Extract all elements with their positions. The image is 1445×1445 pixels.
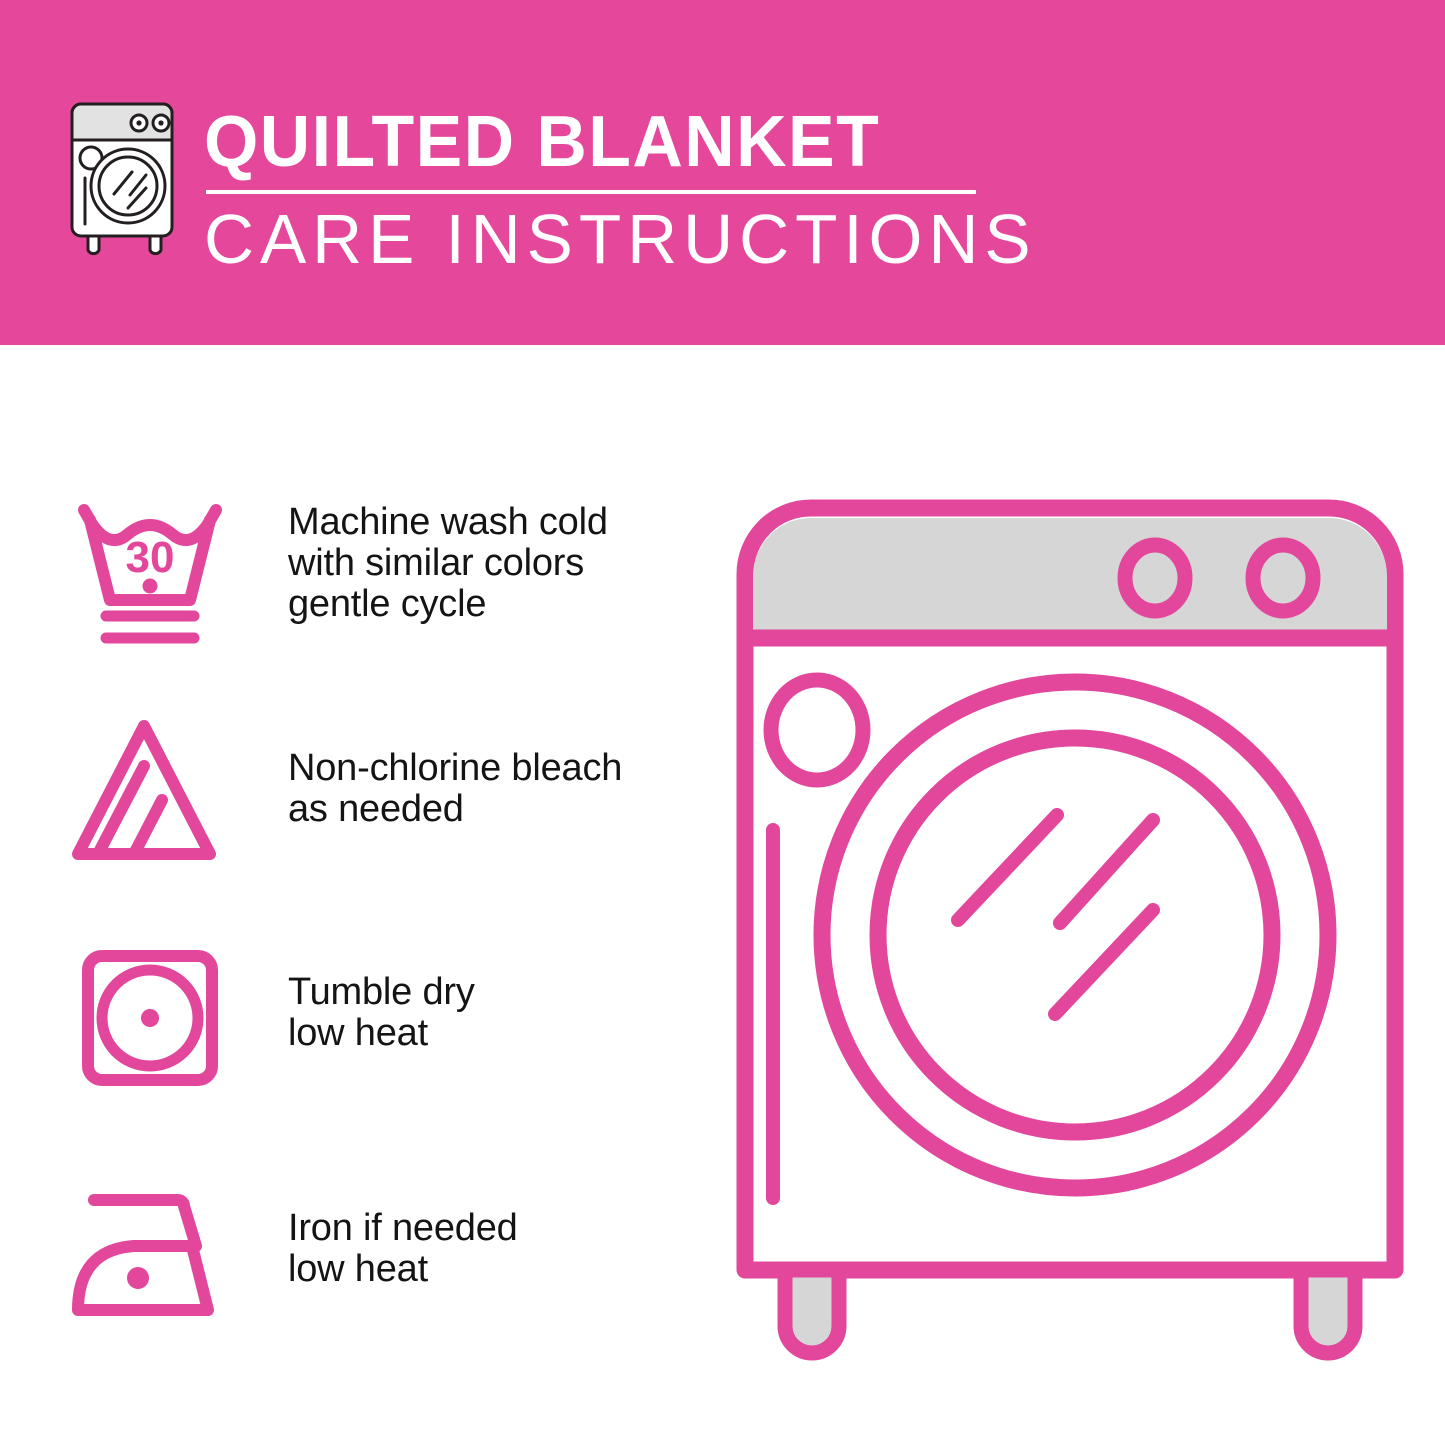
non-chlorine-bleach-triangle-icon xyxy=(62,708,238,884)
page-title: QUILTED BLANKET xyxy=(204,104,970,180)
care-text-wash: Machine wash cold with similar colors ge… xyxy=(288,502,608,625)
header-text-block: QUILTED BLANKET CARE INSTRUCTIONS xyxy=(204,104,994,276)
care-text-iron: Iron if needed low heat xyxy=(288,1208,518,1290)
care-text-line: Tumble dry xyxy=(288,972,475,1013)
iron-low-heat-icon xyxy=(62,1174,238,1350)
care-row-iron: Iron if needed low heat xyxy=(0,1160,700,1390)
wash-temp-label: 30 xyxy=(126,533,175,582)
care-row-bleach: Non-chlorine bleach as needed xyxy=(0,700,700,930)
washing-machine-icon xyxy=(62,98,187,260)
care-text-bleach: Non-chlorine bleach as needed xyxy=(288,748,622,830)
care-text-line: as needed xyxy=(288,789,622,830)
care-text-tumble-dry: Tumble dry low heat xyxy=(288,972,475,1054)
care-text-line: low heat xyxy=(288,1249,518,1290)
tumble-dry-low-icon xyxy=(62,936,238,1112)
small-dial xyxy=(771,680,863,780)
header-banner: QUILTED BLANKET CARE INSTRUCTIONS xyxy=(0,0,1445,345)
care-instructions-poster: QUILTED BLANKET CARE INSTRUCTIONS 30 xyxy=(0,0,1445,1445)
large-washing-machine-illustration xyxy=(715,480,1425,1360)
care-text-line: low heat xyxy=(288,1013,475,1054)
page-subtitle: CARE INSTRUCTIONS xyxy=(204,202,986,276)
door-inner-ring xyxy=(878,738,1272,1132)
care-instruction-list: 30 Machine wash cold with similar colors… xyxy=(0,470,700,1390)
wash-tub-30-gentle-icon: 30 xyxy=(62,490,238,666)
care-text-line: Machine wash cold xyxy=(288,502,608,543)
care-row-wash: 30 Machine wash cold with similar colors… xyxy=(0,470,700,700)
care-text-line: Non-chlorine bleach xyxy=(288,748,622,789)
knob-right xyxy=(1253,545,1313,611)
care-text-line: with similar colors xyxy=(288,543,608,584)
leg-left xyxy=(785,1270,839,1353)
care-text-line: gentle cycle xyxy=(288,584,608,625)
knob-left xyxy=(1125,545,1185,611)
care-text-line: Iron if needed xyxy=(288,1208,518,1249)
leg-right xyxy=(1301,1270,1355,1353)
care-row-tumble-dry: Tumble dry low heat xyxy=(0,930,700,1160)
title-divider xyxy=(206,190,976,194)
